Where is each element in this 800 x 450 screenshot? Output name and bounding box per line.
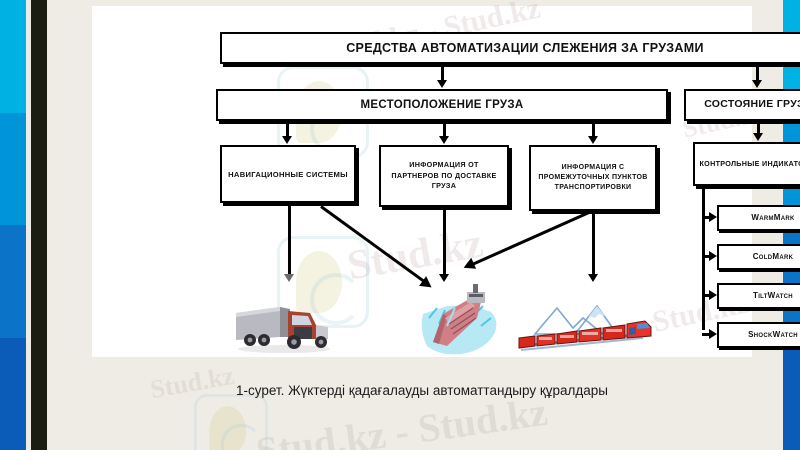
method-box-navigation: НАВИГАЦИОННЫЕ СИСТЕМЫ xyxy=(220,145,356,203)
accent-segment xyxy=(0,0,26,113)
watermark-text: Stud.kz xyxy=(344,220,487,291)
accent-segment xyxy=(0,113,26,226)
method-box-control-indicators: КОНТРОЛЬНЫЕ ИНДИКАТОРЫ xyxy=(693,142,800,186)
watermark-logo-icon xyxy=(194,394,268,450)
dark-vertical-stripe xyxy=(31,0,47,450)
method-label-control-indicators: КОНТРОЛЬНЫЕ ИНДИКАТОРЫ xyxy=(696,159,800,169)
left-accent-bar xyxy=(0,0,26,450)
arrow-right-icon xyxy=(709,251,717,261)
accent-segment xyxy=(783,225,800,338)
connector-line xyxy=(592,211,595,275)
branch-box-condition: СОСТОЯНИЕ ГРУЗА xyxy=(684,89,800,121)
method-label-transit-points: ИНФОРМАЦИЯ С ПРОМЕЖУТОЧНЫХ ПУНКТОВ ТРАНС… xyxy=(531,163,655,193)
figure-panel: Stud.kz - Stud.kz Stud.kz Stud.kz Stud.k… xyxy=(92,6,752,357)
diagram-title-label: СРЕДСТВА АВТОМАТИЗАЦИИ СЛЕЖЕНИЯ ЗА ГРУЗА… xyxy=(342,39,708,57)
arrow-down-icon xyxy=(588,136,598,144)
arrow-right-icon xyxy=(709,212,717,222)
diagram-title-box: СРЕДСТВА АВТОМАТИЗАЦИИ СЛЕЖЕНИЯ ЗА ГРУЗА… xyxy=(220,32,800,64)
branch-label-condition: СОСТОЯНИЕ ГРУЗА xyxy=(700,97,800,112)
truck-illustration xyxy=(232,293,336,355)
method-label-partners: ИНФОРМАЦИЯ ОТ ПАРТНЕРОВ ПО ДОСТАВКЕ ГРУЗ… xyxy=(381,160,507,191)
arrow-down-icon xyxy=(439,274,449,282)
method-box-partners: ИНФОРМАЦИЯ ОТ ПАРТНЕРОВ ПО ДОСТАВКЕ ГРУЗ… xyxy=(379,145,509,207)
method-box-transit-points: ИНФОРМАЦИЯ С ПРОМЕЖУТОЧНЫХ ПУНКТОВ ТРАНС… xyxy=(529,145,657,211)
arrow-down-icon xyxy=(439,136,449,144)
branch-box-location: МЕСТОПОЛОЖЕНИЕ ГРУЗА xyxy=(216,89,668,121)
figure-caption: 1-сурет. Жүктерді қадағалауды автоматтан… xyxy=(92,383,752,398)
arrow-head-icon xyxy=(461,258,476,273)
accent-segment xyxy=(783,338,800,450)
connector-line xyxy=(286,121,289,137)
train-illustration xyxy=(517,294,653,356)
arrow-down-icon xyxy=(752,80,762,88)
arrow-right-icon xyxy=(709,290,717,300)
arrow-down-icon xyxy=(437,80,447,88)
arrow-down-icon xyxy=(753,133,763,141)
connector-line xyxy=(443,121,446,137)
arrow-down-icon xyxy=(588,274,598,282)
indicator-trunk-line xyxy=(702,186,705,330)
indicator-label-shockwatch: ShockWatch xyxy=(744,329,800,341)
arrow-down-icon xyxy=(282,136,292,144)
connector-line xyxy=(592,121,595,137)
connector-line xyxy=(756,64,759,81)
connector-diagonal xyxy=(470,211,590,267)
accent-segment xyxy=(0,338,26,450)
connector-diagonal xyxy=(320,205,427,284)
indicator-box-coldmark: ColdMark xyxy=(717,244,800,270)
arrow-down-icon xyxy=(284,274,294,282)
branch-label-location: МЕСТОПОЛОЖЕНИЕ ГРУЗА xyxy=(357,97,528,114)
indicator-label-coldmark: ColdMark xyxy=(749,251,798,263)
method-label-navigation: НАВИГАЦИОННЫЕ СИСТЕМЫ xyxy=(224,169,352,180)
indicator-box-tiltwatch: TiltWatch xyxy=(717,283,800,309)
connector-line xyxy=(441,64,444,81)
indicator-box-warmmark: WarmMark xyxy=(717,205,800,231)
arrow-right-icon xyxy=(709,329,717,339)
connector-line xyxy=(443,207,446,275)
connector-line xyxy=(288,203,291,275)
indicator-box-shockwatch: ShockWatch xyxy=(717,322,800,348)
accent-segment xyxy=(0,225,26,338)
indicator-label-tiltwatch: TiltWatch xyxy=(749,290,797,302)
cargo-ship-illustration xyxy=(417,284,501,356)
indicator-label-warmmark: WarmMark xyxy=(747,212,798,224)
